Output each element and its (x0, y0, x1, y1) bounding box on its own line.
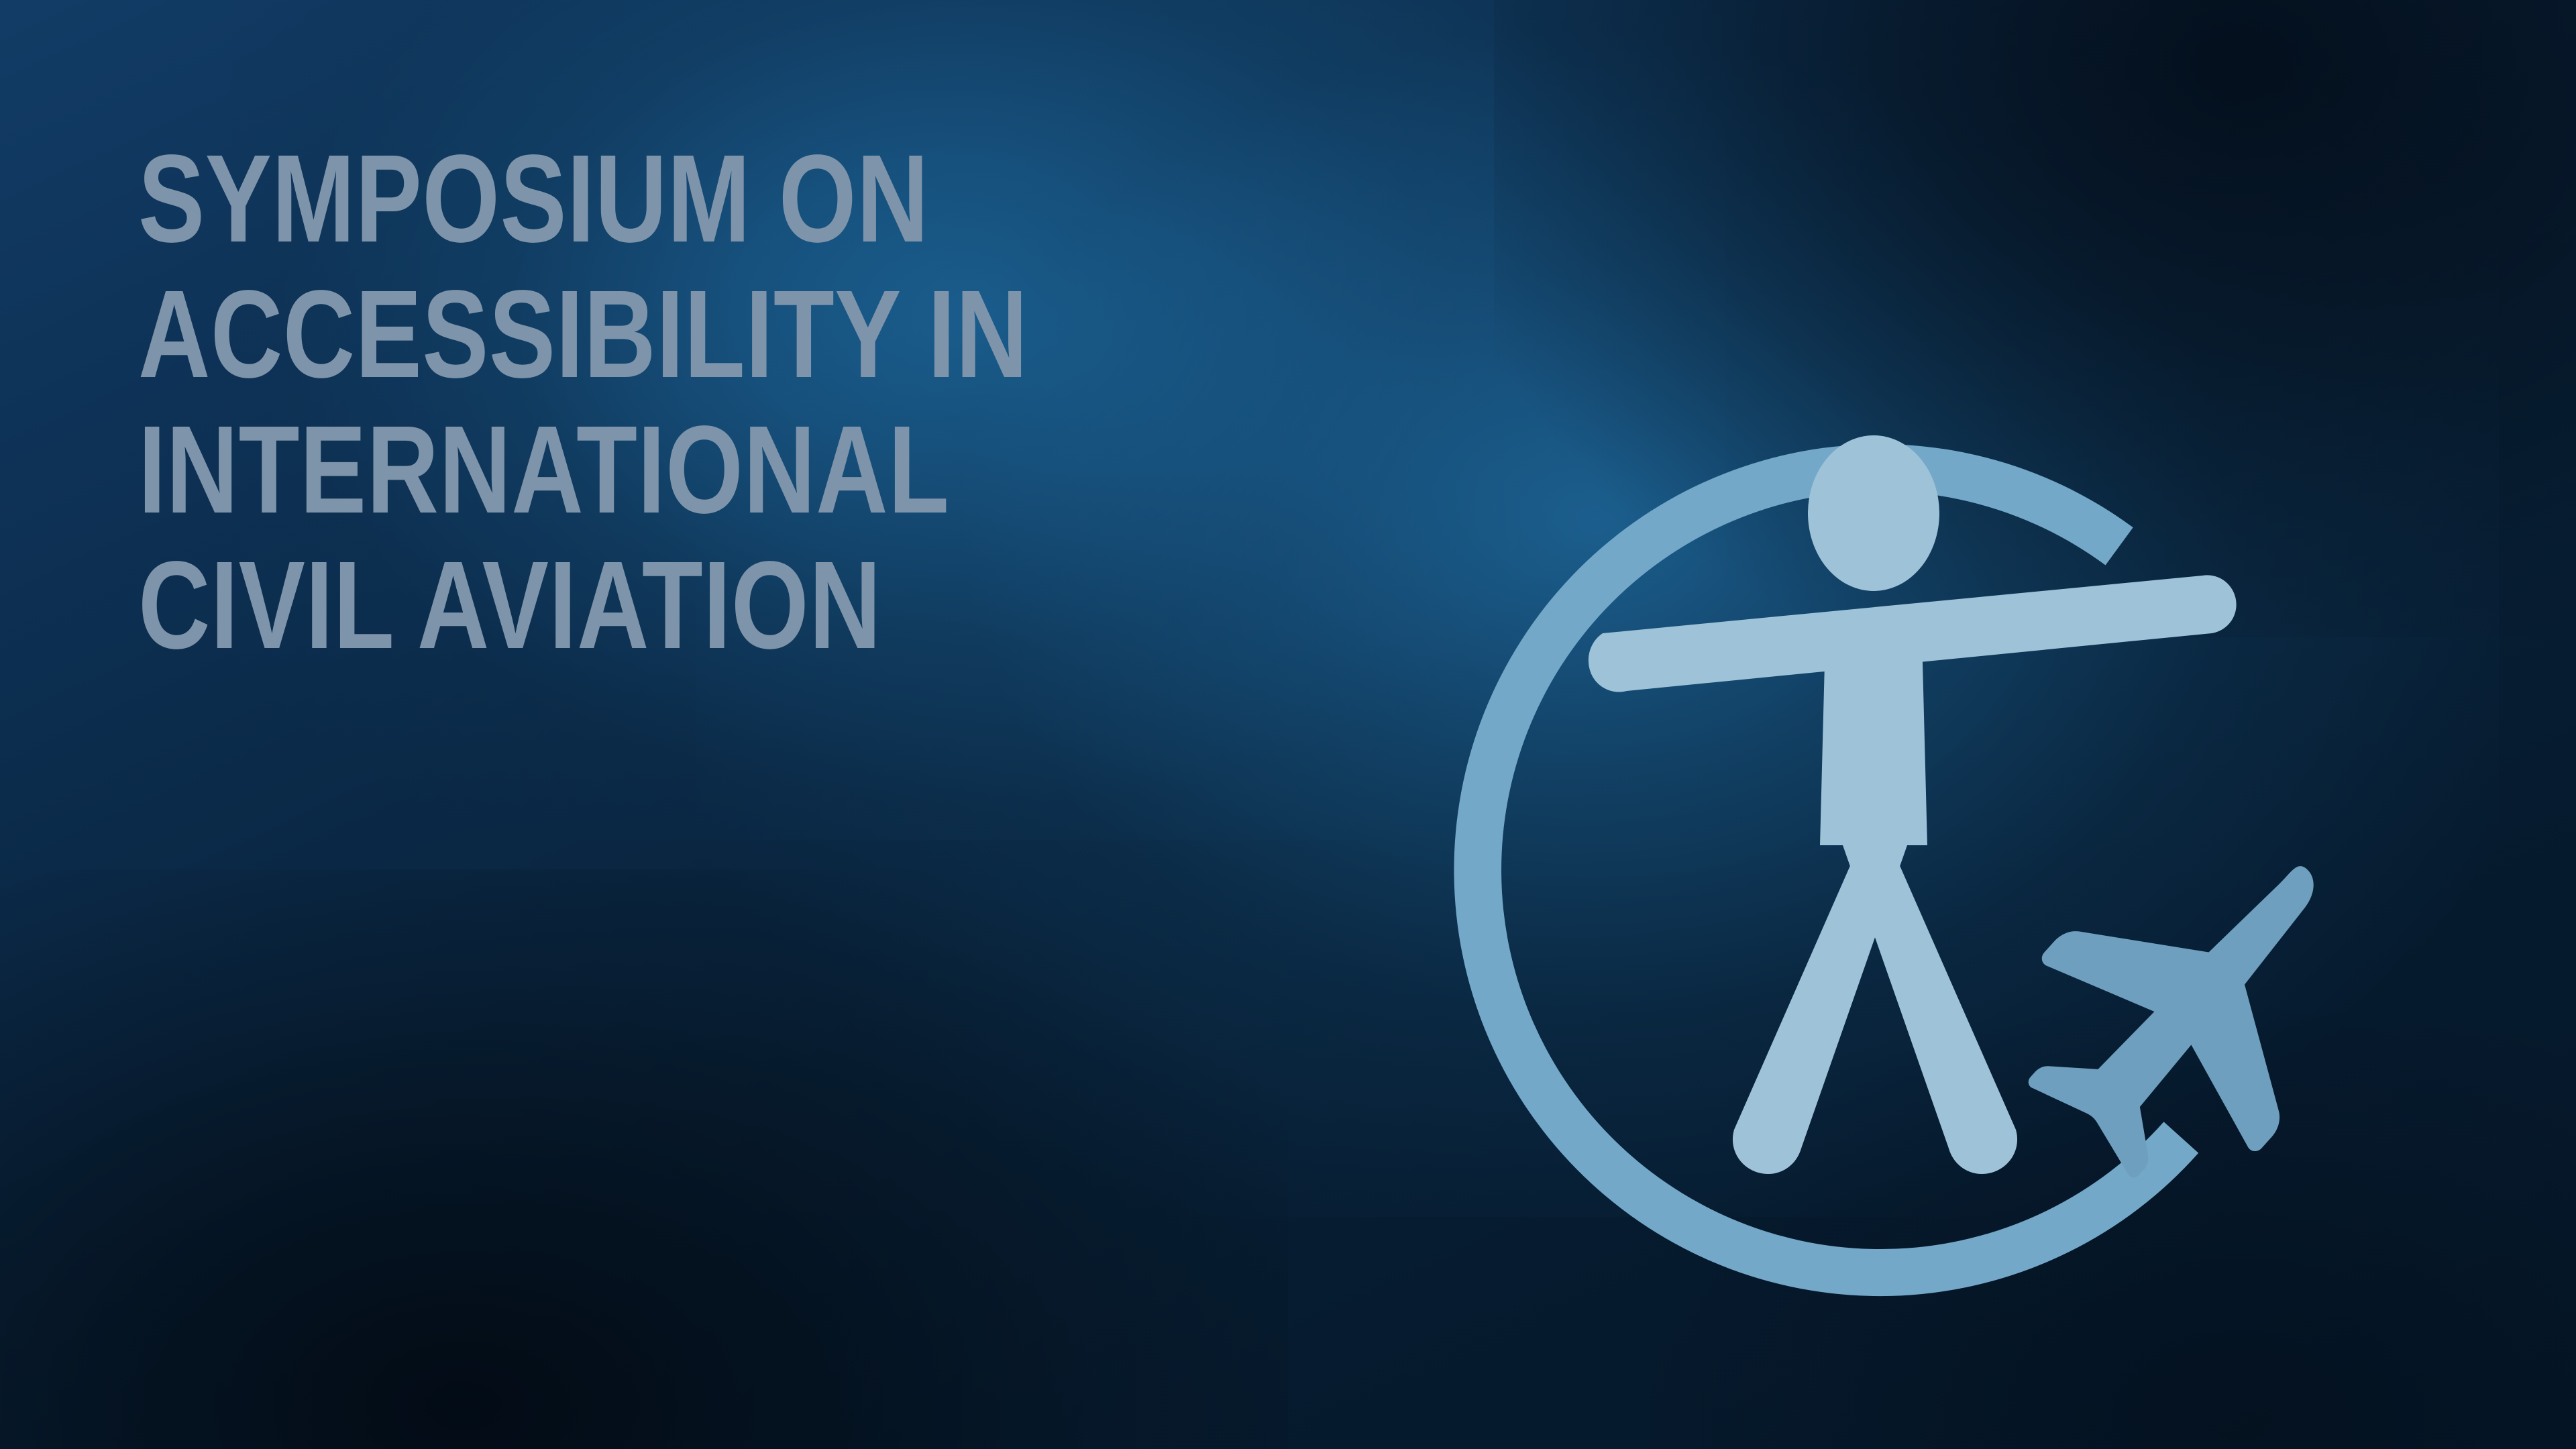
banner-canvas: SYMPOSIUM ON ACCESSIBILITY IN INTERNATIO… (0, 0, 2576, 1449)
accessibility-in-aviation-logo (1426, 376, 2392, 1355)
title-line-3: INTERNATIONAL (138, 402, 1276, 538)
title-line-4: CIVIL AVIATION (138, 538, 1276, 674)
person-torso (1820, 637, 1927, 845)
title-line-1: SYMPOSIUM ON (138, 131, 1276, 267)
person-leg-right (1843, 818, 2017, 1174)
ring-arc (1454, 444, 2198, 1296)
open-circle-ring-icon (1454, 444, 2198, 1296)
person-head (1808, 435, 1939, 591)
title-line-2: ACCESSIBILITY IN (138, 267, 1276, 402)
page-title: SYMPOSIUM ON ACCESSIBILITY IN INTERNATIO… (138, 131, 1560, 674)
